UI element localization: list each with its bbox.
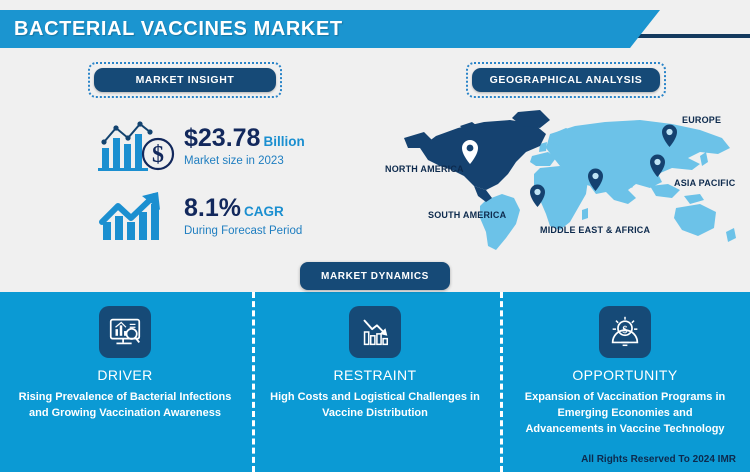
panel-driver-description: Rising Prevalence of Bacterial Infection… <box>12 390 238 422</box>
panel-driver-title: DRIVER <box>97 367 152 383</box>
stat-market-size-value-row: $23.78Billion <box>184 125 305 151</box>
market-dynamics-button[interactable]: MARKET DYNAMICS <box>300 262 450 290</box>
panel-opportunity-description: Expansion of Vaccination Programs in Eme… <box>512 390 738 438</box>
geographical-analysis-button-label: GEOGRAPHICAL ANALYSIS <box>472 68 660 92</box>
header: BACTERIAL VACCINES MARKET <box>0 10 750 48</box>
page-title: BACTERIAL VACCINES MARKET <box>14 18 343 41</box>
stat-cagr-unit: CAGR <box>244 204 284 219</box>
stat-market-size-unit: Billion <box>263 134 304 149</box>
stat-cagr: 8.1%CAGR During Forecast Period <box>98 188 302 244</box>
panel-restraint-title: RESTRAINT <box>334 367 417 383</box>
geographical-analysis-button[interactable]: GEOGRAPHICAL ANALYSIS <box>466 62 666 98</box>
map-label-asia-pacific: ASIA PACIFIC <box>674 178 735 188</box>
market-insight-button-label: MARKET INSIGHT <box>94 68 276 92</box>
panel-driver[interactable]: DRIVER Rising Prevalence of Bacterial In… <box>0 292 250 472</box>
bar-chart-dollar-icon: $ <box>98 118 176 174</box>
map-label-middle-east-africa: MIDDLE EAST & AFRICA <box>540 225 650 235</box>
stat-cagr-text: 8.1%CAGR During Forecast Period <box>184 195 302 237</box>
map-label-europe: EUROPE <box>682 115 721 125</box>
world-map: NORTH AMERICA EUROPE ASIA PACIFIC SOUTH … <box>400 104 750 254</box>
growth-arrow-chart-icon <box>98 188 176 244</box>
header-band: BACTERIAL VACCINES MARKET <box>0 10 660 48</box>
panel-opportunity-title: OPPORTUNITY <box>572 367 677 383</box>
stat-cagr-value: 8.1% <box>184 194 241 222</box>
svg-text:$: $ <box>152 142 164 168</box>
declining-bar-chart-icon <box>349 306 401 358</box>
stat-market-size-text: $23.78Billion Market size in 2023 <box>184 125 305 167</box>
stat-cagr-caption: During Forecast Period <box>184 225 302 237</box>
panel-restraint[interactable]: RESTRAINT High Costs and Logistical Chal… <box>250 292 500 472</box>
stat-cagr-value-row: 8.1%CAGR <box>184 195 302 221</box>
stat-market-size-caption: Market size in 2023 <box>184 155 305 167</box>
map-label-north-america: NORTH AMERICA <box>385 164 464 174</box>
market-dynamics-button-label: MARKET DYNAMICS <box>321 271 429 282</box>
stat-market-size-value: $23.78 <box>184 124 260 152</box>
market-dynamics-band: DRIVER Rising Prevalence of Bacterial In… <box>0 292 750 472</box>
market-insight-button[interactable]: MARKET INSIGHT <box>88 62 282 98</box>
monitor-analytics-magnifier-icon <box>99 306 151 358</box>
footer-copyright: All Rights Reserved To 2024 IMR <box>581 454 736 465</box>
lightbulb-dollar-icon: $ <box>599 306 651 358</box>
infographic-root: BACTERIAL VACCINES MARKET MARKET INSIGHT <box>0 0 750 472</box>
panel-opportunity[interactable]: $ OPPORTUNITY Expansion of Vaccination P… <box>500 292 750 472</box>
map-label-south-america: SOUTH AMERICA <box>428 210 506 220</box>
stat-market-size: $ $23.78Billion Market size in 2023 <box>98 118 305 174</box>
panel-restraint-description: High Costs and Logistical Challenges in … <box>262 390 488 422</box>
